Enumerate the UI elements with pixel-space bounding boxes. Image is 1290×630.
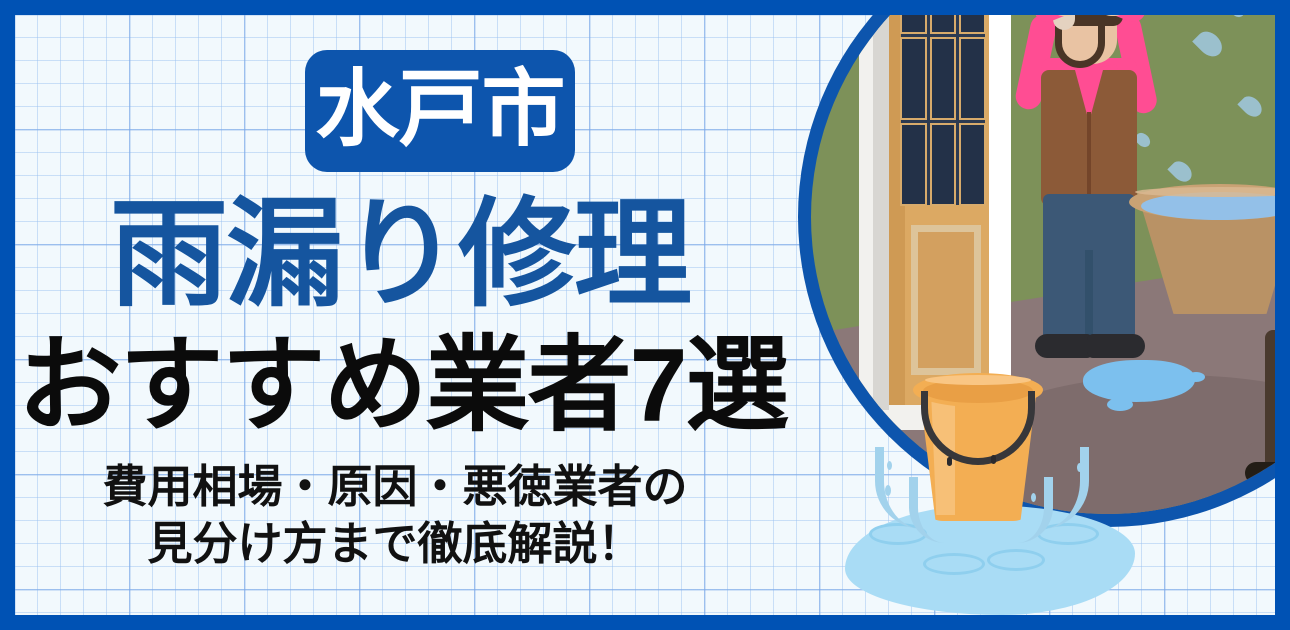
city-badge: 水戸市 [305, 50, 575, 172]
door-pane [901, 38, 926, 119]
door-pane [960, 15, 985, 33]
leaking-bucket-scene [845, 365, 1155, 615]
thumbnail-canvas: 水戸市 雨漏り修理 おすすめ業者7選 費用相場・原因・悪徳業者の 見分け方まで徹… [0, 0, 1290, 630]
lede-line-1: 費用相場・原因・悪徳業者の [15, 458, 775, 515]
orange-bucket [913, 373, 1043, 521]
floor-puddle-droplet [1187, 372, 1205, 382]
puddle-ripple [923, 553, 985, 575]
lede-line-2: 見分け方まで徹底解説！ [15, 515, 775, 572]
door-pane [901, 15, 926, 33]
graph-paper-background: 水戸市 雨漏り修理 おすすめ業者7選 費用相場・原因・悪徳業者の 見分け方まで徹… [15, 15, 1275, 615]
water-basin [1129, 184, 1275, 314]
door-frame-right [989, 15, 1011, 415]
shoe-left [1245, 462, 1275, 484]
door-pane [931, 38, 956, 119]
title-line-sub: おすすめ業者7選 [15, 333, 790, 439]
shoe-right [1087, 334, 1145, 358]
door-glass-grid [901, 15, 985, 205]
door-pane [931, 15, 956, 33]
puddle-ripple [987, 549, 1045, 571]
water-droplet [1077, 463, 1082, 472]
rain-drop-icon [1227, 15, 1247, 20]
leg-separation [1085, 250, 1093, 342]
door-frame-inner-shade [873, 15, 889, 410]
rain-drop-icon [1167, 157, 1195, 185]
shoe-left [1035, 334, 1093, 358]
bucket-hole [991, 455, 996, 464]
bucket-hole [947, 457, 952, 466]
water-droplet [887, 461, 892, 470]
vest-button-line [1087, 112, 1091, 206]
title-line-main: 雨漏り修理 [15, 195, 785, 315]
door-lower-panel [911, 225, 981, 375]
lede-text: 費用相場・原因・悪徳業者の 見分け方まで徹底解説！ [15, 458, 775, 572]
water-droplet [885, 485, 891, 496]
door-pane [901, 124, 926, 205]
door-pane [931, 124, 956, 205]
door-pane [960, 38, 985, 119]
bucket-rim-highlight [925, 375, 1031, 385]
door-pane [960, 124, 985, 205]
wooden-door [889, 15, 993, 405]
rain-drop-icon [1192, 27, 1227, 62]
